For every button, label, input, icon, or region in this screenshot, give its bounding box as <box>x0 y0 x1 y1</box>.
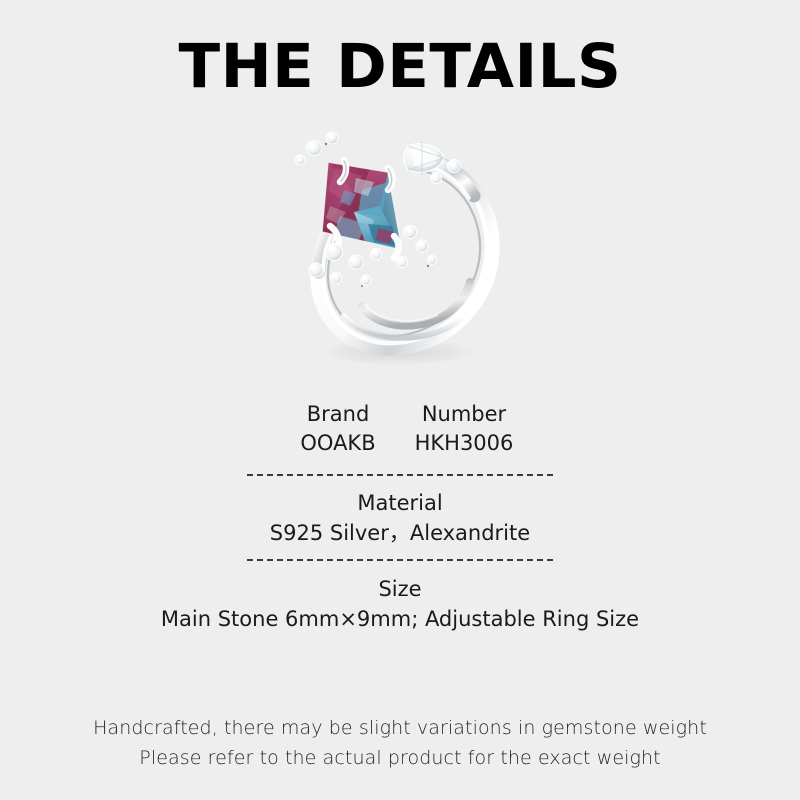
spec-material-value: S925 Silver，Alexandrite <box>0 518 800 548</box>
spec-material-label: Material <box>0 488 800 518</box>
spec-list: Brand OOAKB Number HKH3006 Material S925… <box>0 400 800 634</box>
spec-material: Material S925 Silver，Alexandrite <box>0 488 800 548</box>
spec-brand-label: Brand <box>268 400 408 429</box>
spec-divider-1 <box>247 474 553 476</box>
spec-number-label: Number <box>394 400 534 429</box>
page-title: THE DETAILS <box>0 33 800 100</box>
spec-size-label: Size <box>0 574 800 604</box>
spec-divider-2 <box>247 559 553 561</box>
spec-brand: Brand OOAKB <box>268 400 408 458</box>
spec-size-value: Main Stone 6mm×9mm; Adjustable Ring Size <box>0 604 800 634</box>
disclaimer-note: Handcrafted, there may be slight variati… <box>0 713 800 773</box>
disclaimer-line-1: Handcrafted, there may be slight variati… <box>0 713 800 743</box>
spec-number-value: HKH3006 <box>394 429 534 458</box>
spec-number: Number HKH3006 <box>394 400 534 458</box>
spec-brand-value: OOAKB <box>268 429 408 458</box>
alexandrite-kite-ring-photo <box>270 120 540 380</box>
product-detail-page: THE DETAILS <box>0 0 800 800</box>
disclaimer-line-2: Please refer to the actual product for t… <box>0 743 800 773</box>
spec-size: Size Main Stone 6mm×9mm; Adjustable Ring… <box>0 574 800 634</box>
spec-row-brand-number: Brand OOAKB Number HKH3006 <box>0 400 800 462</box>
